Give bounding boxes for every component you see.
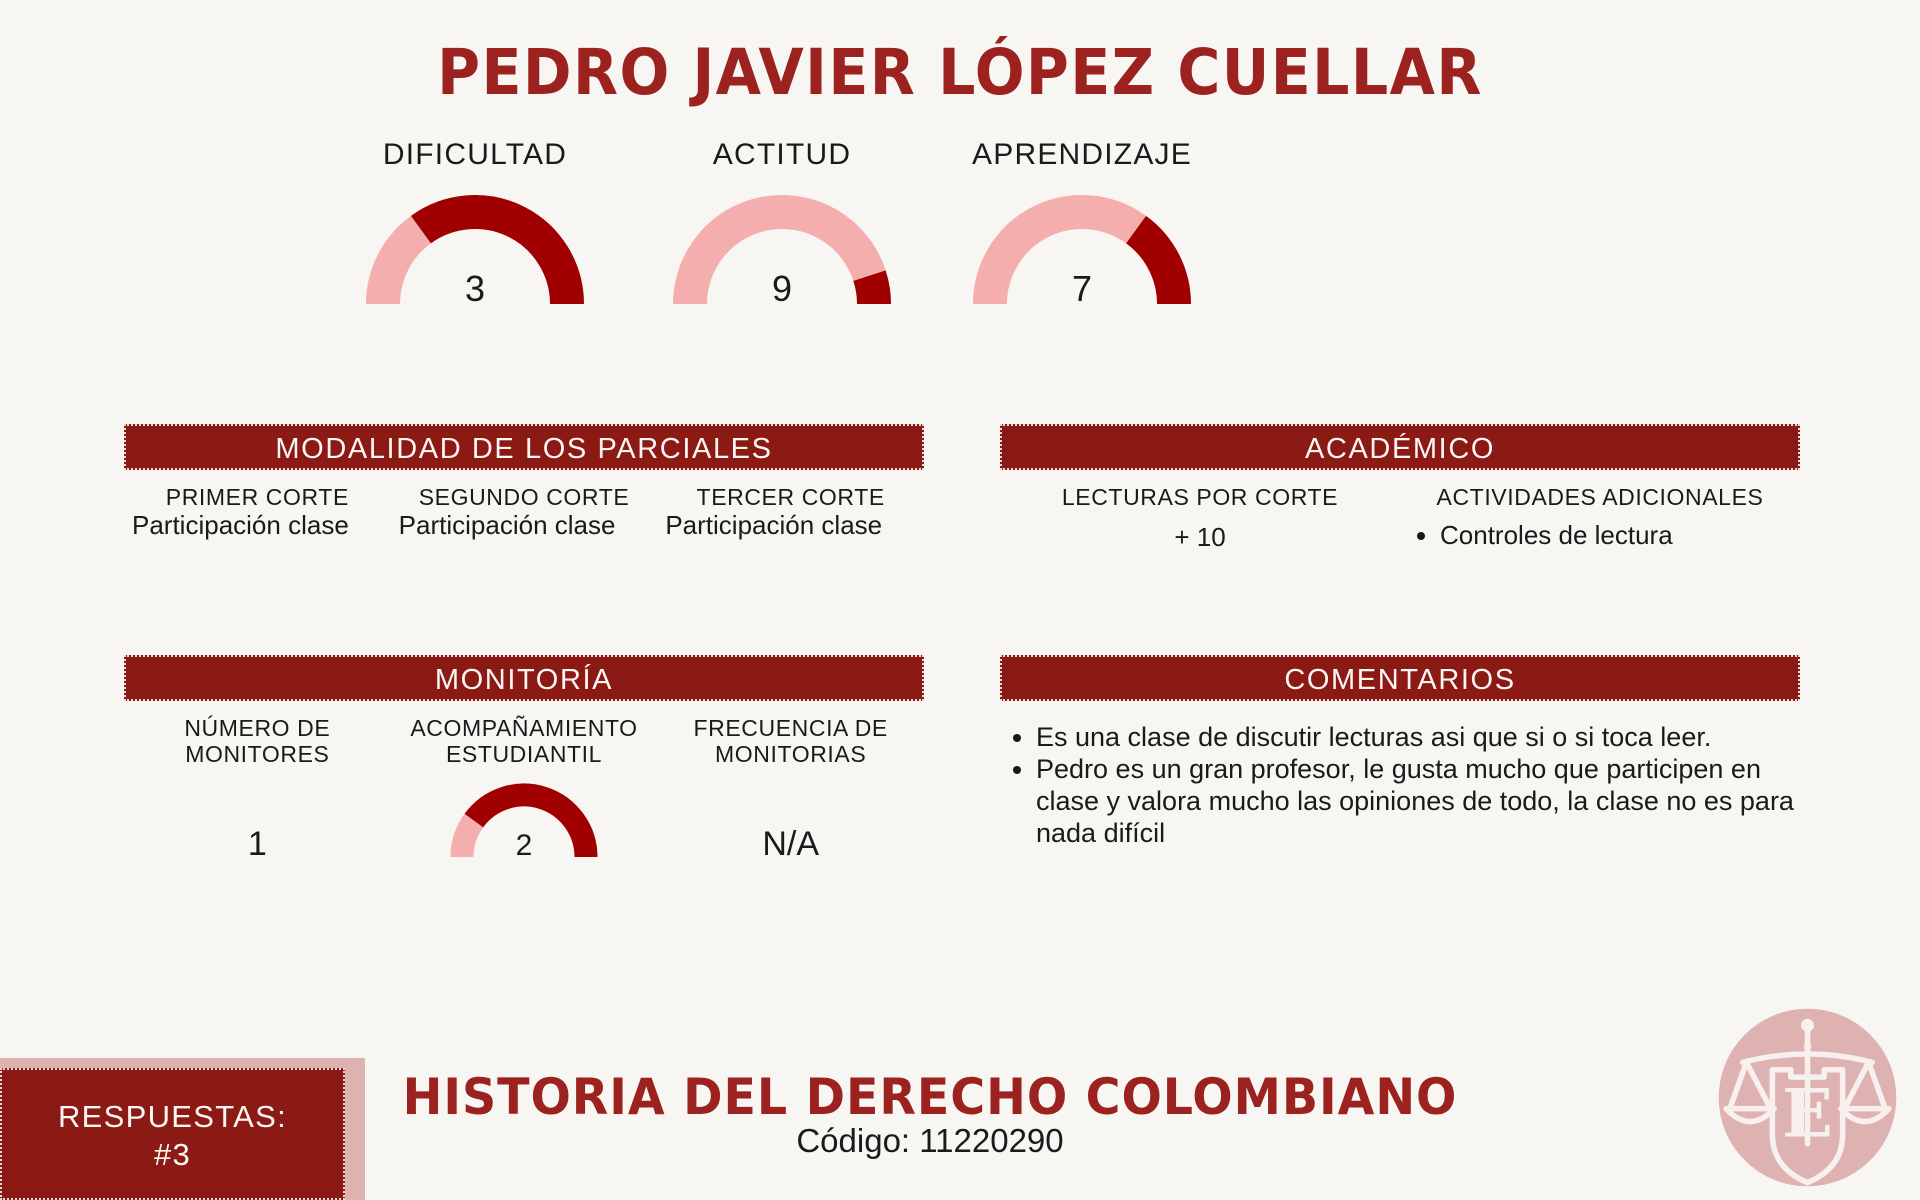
gauge-actitud-value: 9 — [664, 268, 900, 310]
monitoria-acompanamiento-value: 2 — [445, 829, 603, 863]
academico-col-lecturas: LECTURAS POR CORTE + 10 — [1000, 484, 1400, 553]
monitoria-col-acompanamiento: ACOMPAÑAMIENTO ESTUDIANTIL 2 — [391, 715, 658, 863]
gauge-aprendizaje: APRENDIZAJE 7 — [932, 138, 1232, 312]
monitoria-numero-head: NÚMERO DE MONITORES — [124, 715, 391, 767]
logo-letter-e: E — [1782, 1073, 1833, 1152]
academico-lecturas-value: + 10 — [1006, 522, 1394, 553]
panel-academico: ACADÉMICO LECTURAS POR CORTE + 10 ACTIVI… — [1000, 424, 1800, 553]
gauge-aprendizaje-value: 7 — [964, 268, 1200, 310]
modalidad-primer-head: PRIMER CORTE — [128, 484, 387, 510]
academico-col-actividades: ACTIVIDADES ADICIONALES Controles de lec… — [1400, 484, 1800, 553]
monitoria-acompanamiento-arc: 2 — [445, 781, 603, 863]
gauge-actitud: ACTITUD 9 — [632, 138, 932, 312]
monitoria-acompanamiento-head: ACOMPAÑAMIENTO ESTUDIANTIL — [391, 715, 658, 767]
respuestas-badge: RESPUESTAS: #3 — [0, 1068, 345, 1200]
gauge-dificultad: DIFICULTAD 3 — [325, 138, 625, 312]
list-item: Es una clase de discutir lecturas asi qu… — [1036, 721, 1800, 753]
academico-actividades-head: ACTIVIDADES ADICIONALES — [1406, 484, 1794, 510]
modalidad-col-primer: PRIMER CORTE Participación clase — [124, 484, 391, 541]
panel-monitoria-header: MONITORÍA — [124, 655, 924, 701]
gauge-row: DIFICULTAD 3 ACTITUD 9 APRENDIZAJE — [0, 138, 1920, 318]
list-item: Controles de lectura — [1440, 520, 1794, 551]
panel-comentarios-header: COMENTARIOS — [1000, 655, 1800, 701]
modalidad-col-segundo: SEGUNDO CORTE Participación clase — [391, 484, 658, 541]
gauge-actitud-label: ACTITUD — [632, 138, 932, 172]
panel-academico-header: ACADÉMICO — [1000, 424, 1800, 470]
page-title: PEDRO JAVIER LÓPEZ CUELLAR — [67, 36, 1853, 109]
modalidad-primer-body: Participación clase — [128, 510, 387, 541]
modalidad-col-tercer: TERCER CORTE Participación clase — [657, 484, 924, 541]
respuestas-label: RESPUESTAS: — [2, 1098, 343, 1136]
gauge-actitud-arc: 9 — [664, 192, 900, 312]
modalidad-segundo-head: SEGUNDO CORTE — [395, 484, 654, 510]
course-code: Código: 11220290 — [330, 1122, 1530, 1160]
monitoria-frecuencia-head: FRECUENCIA DE MONITORIAS — [657, 715, 924, 767]
panel-comentarios: COMENTARIOS Es una clase de discutir lec… — [1000, 655, 1800, 849]
monitoria-numero-value: 1 — [124, 825, 391, 864]
panel-monitoria: MONITORÍA NÚMERO DE MONITORES 1 ACOMPAÑA… — [124, 655, 924, 864]
modalidad-tercer-body: Participación clase — [661, 510, 920, 541]
academico-lecturas-head: LECTURAS POR CORTE — [1006, 484, 1394, 510]
gauge-dificultad-arc: 3 — [357, 192, 593, 312]
infographic-root: PEDRO JAVIER LÓPEZ CUELLAR DIFICULTAD 3 … — [0, 0, 1920, 1200]
gauge-aprendizaje-arc: 7 — [964, 192, 1200, 312]
scales-of-justice-badge-icon: E — [1715, 1005, 1900, 1190]
respuestas-count: #3 — [2, 1136, 343, 1174]
gauge-dificultad-label: DIFICULTAD — [325, 138, 625, 172]
modalidad-segundo-body: Participación clase — [395, 510, 654, 541]
gauge-dificultad-value: 3 — [357, 268, 593, 310]
panel-modalidad: MODALIDAD DE LOS PARCIALES PRIMER CORTE … — [124, 424, 924, 541]
modalidad-tercer-head: TERCER CORTE — [661, 484, 920, 510]
monitoria-col-numero: NÚMERO DE MONITORES 1 — [124, 715, 391, 864]
panel-modalidad-header: MODALIDAD DE LOS PARCIALES — [124, 424, 924, 470]
course-title: HISTORIA DEL DERECHO COLOMBIANO — [360, 1068, 1500, 1126]
monitoria-col-frecuencia: FRECUENCIA DE MONITORIAS N/A — [657, 715, 924, 864]
comentarios-list: Es una clase de discutir lecturas asi qu… — [1000, 721, 1800, 849]
list-item: Pedro es un gran profesor, le gusta much… — [1036, 753, 1800, 849]
monitoria-frecuencia-value: N/A — [657, 825, 924, 864]
gauge-aprendizaje-label: APRENDIZAJE — [932, 138, 1232, 172]
academico-actividades-list: Controles de lectura — [1406, 520, 1794, 551]
